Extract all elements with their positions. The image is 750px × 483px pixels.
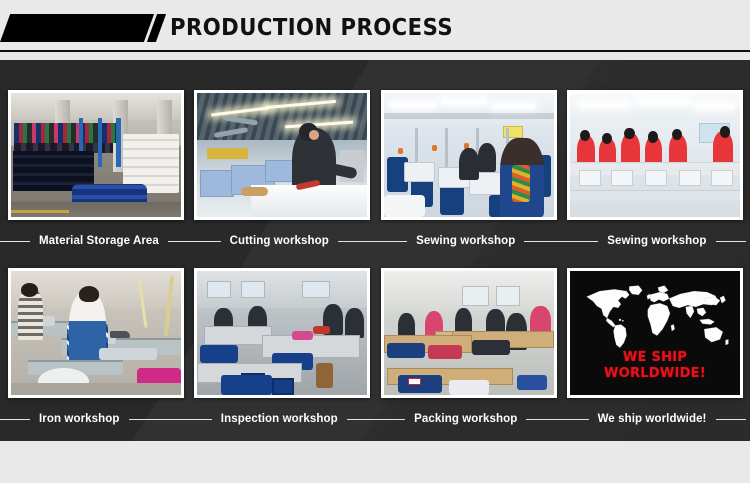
caption-line-left — [0, 419, 30, 420]
photo-sewing-workshop-1 — [384, 93, 554, 217]
gallery-card-sewing-workshop-2[interactable] — [567, 90, 743, 220]
gallery-row-1 — [0, 90, 750, 220]
caption-cutting-workshop: Cutting workshop — [186, 228, 373, 254]
gallery-card-sewing-workshop-1[interactable] — [381, 90, 557, 220]
caption-line-right — [129, 419, 186, 420]
caption-we-ship-worldwide: We ship worldwide! — [559, 406, 746, 432]
gallery-card-inspection-workshop[interactable] — [194, 268, 370, 398]
caption-line-left — [0, 241, 30, 242]
caption-iron-workshop: Iron workshop — [0, 406, 186, 432]
caption-line-right — [347, 419, 373, 420]
header-divider — [0, 50, 750, 52]
caption-line-left — [373, 241, 408, 242]
page-footer — [0, 441, 750, 483]
gallery-card-iron-workshop[interactable] — [8, 268, 184, 398]
caption-packing-workshop: Packing workshop — [373, 406, 560, 432]
caption-row-1: Material Storage Area Cutting workshop S… — [0, 228, 750, 254]
gallery-panel: Material Storage Area Cutting workshop S… — [0, 60, 750, 441]
caption-label: We ship worldwide! — [589, 413, 716, 425]
caption-label: Cutting workshop — [221, 235, 338, 247]
caption-sewing-workshop-2: Sewing workshop — [559, 228, 746, 254]
caption-label: Inspection workshop — [212, 413, 347, 425]
caption-inspection-workshop: Inspection workshop — [186, 406, 373, 432]
gallery-card-we-ship-worldwide[interactable]: WE SHIP WORLDWIDE! — [567, 268, 743, 398]
caption-line-left — [559, 241, 598, 242]
caption-label: Sewing workshop — [598, 235, 715, 247]
caption-sewing-workshop-1: Sewing workshop — [373, 228, 560, 254]
caption-line-left — [373, 419, 406, 420]
caption-line-right — [338, 241, 373, 242]
photo-packing-workshop — [384, 271, 554, 395]
caption-line-right — [716, 241, 746, 242]
caption-line-right — [716, 419, 746, 420]
photo-world-map: WE SHIP WORLDWIDE! — [570, 271, 740, 395]
photo-inspection-workshop — [197, 271, 367, 395]
caption-row-2: Iron workshop Inspection workshop Packin… — [0, 406, 750, 432]
world-map-icon — [577, 281, 733, 350]
caption-label: Sewing workshop — [407, 235, 524, 247]
page-header: PRODUCTION PROCESS — [0, 0, 750, 52]
gallery-card-packing-workshop[interactable] — [381, 268, 557, 398]
caption-label: Material Storage Area — [30, 235, 168, 247]
caption-line-left — [186, 419, 212, 420]
caption-line-left — [186, 241, 221, 242]
caption-label: Packing workshop — [405, 413, 526, 425]
caption-line-right — [524, 241, 559, 242]
gallery-card-material-storage[interactable] — [8, 90, 184, 220]
ship-worldwide-headline: WE SHIP WORLDWIDE! — [573, 349, 738, 381]
production-process-page: PRODUCTION PROCESS — [0, 0, 750, 483]
gallery-row-2: WE SHIP WORLDWIDE! — [0, 268, 750, 398]
header-black-bar — [0, 14, 150, 42]
caption-line-right — [526, 419, 559, 420]
photo-cutting-workshop — [197, 93, 367, 217]
caption-line-right — [168, 241, 186, 242]
caption-label: Iron workshop — [30, 413, 129, 425]
caption-material-storage: Material Storage Area — [0, 228, 186, 254]
photo-iron-workshop — [11, 271, 181, 395]
gallery-card-cutting-workshop[interactable] — [194, 90, 370, 220]
photo-material-storage — [11, 93, 181, 217]
page-title: PRODUCTION PROCESS — [170, 13, 453, 43]
caption-line-left — [559, 419, 589, 420]
photo-sewing-workshop-2 — [570, 93, 740, 217]
